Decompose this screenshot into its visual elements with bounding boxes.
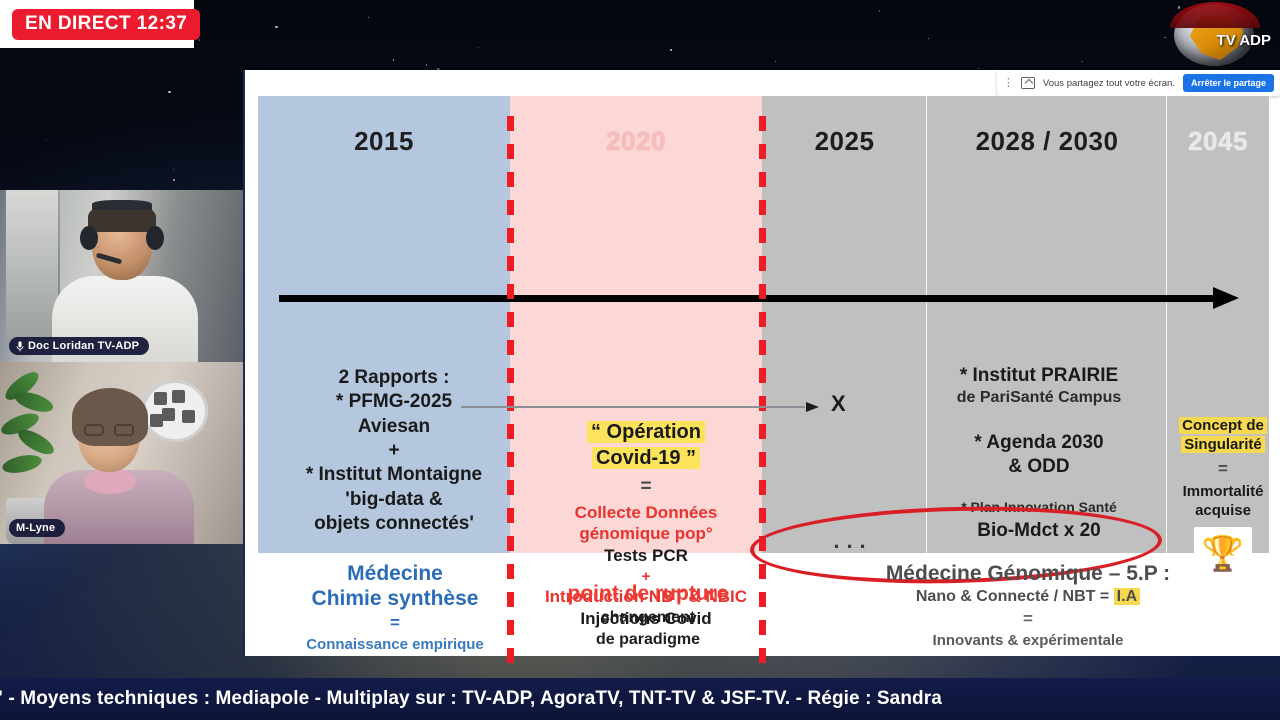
microphone-icon: [16, 341, 24, 352]
x-marker: X: [831, 391, 846, 417]
year-label-2028-2030: 2028 / 2030: [927, 126, 1167, 157]
headphone-right-cup-icon: [146, 226, 164, 250]
col-2025-header-band: [762, 96, 927, 233]
legend-pink-line-2: changement: [526, 608, 770, 628]
headphone-left-cup-icon: [80, 226, 98, 250]
bigdata-line: 'big-data &: [274, 488, 514, 512]
legend-blue-line-2: Chimie synthèse: [274, 587, 516, 612]
legend-grey-line-2: Nano & Connecté / NBT = I.A: [778, 588, 1278, 606]
legend-grey-line-3: Innovants & expérimentale: [778, 632, 1278, 649]
video-tile-participant-1[interactable]: Doc Loridan TV-ADP: [0, 190, 243, 362]
legend-medecine-chimie: Médecine Chimie synthèse = Connaissance …: [274, 562, 516, 653]
operation-line-1: “ Opération: [587, 421, 705, 443]
year-label-2025: 2025: [762, 126, 927, 157]
institut-montaigne-line: * Institut Montaigne: [274, 463, 514, 487]
legend-medecine-genomique: Médecine Génomique – 5.P : Nano & Connec…: [778, 562, 1278, 649]
legend-point-de-rupture: point de rupture changement de paradigme: [526, 582, 770, 649]
live-badge: EN DIRECT 12:37: [12, 9, 200, 40]
institut-prairie-line: * Institut PRAIRIE: [914, 364, 1164, 388]
col-2020-header-band: [510, 96, 762, 233]
collecte-donnees-line: Collecte Données: [526, 502, 766, 524]
headphone-band-icon: [92, 200, 152, 210]
concept-line-2: Singularité: [1181, 436, 1265, 453]
legend-pink-line-1: point de rupture: [526, 582, 770, 606]
acquise-line: acquise: [1168, 501, 1278, 520]
cam2-hair: [72, 388, 148, 446]
thin-arrow-head: [806, 402, 819, 412]
channel-logo: TV ADP: [1160, 2, 1276, 68]
timeline-axis-shaft: [279, 295, 1219, 302]
news-ticker: " - Moyens techniques : Mediapole - Mult…: [0, 678, 1280, 720]
tests-pcr-line: Tests PCR: [526, 545, 766, 567]
wall-art-decor: [142, 380, 208, 442]
operation-line-2: Covid-19 ”: [592, 447, 700, 469]
agenda-2030-line: * Agenda 2030: [914, 431, 1164, 455]
aviesan-line: Aviesan: [274, 415, 514, 439]
participant-2-name-badge: M-Lyne: [9, 519, 65, 537]
screen-share-toast[interactable]: ⋮ Vous partagez tout votre écran. Arrête…: [997, 70, 1280, 96]
participant-1-name-badge: Doc Loridan TV-ADP: [9, 337, 149, 355]
legend-grey-line-1: Médecine Génomique – 5.P :: [778, 562, 1278, 586]
legend-blue-line-3: Connaissance empirique: [274, 636, 516, 653]
legend-grey-equals: =: [778, 609, 1278, 629]
content-2045: Concept de Singularité = Immortalité acq…: [1168, 416, 1278, 583]
legend-grey-ia-highlight: I.A: [1114, 588, 1140, 605]
operation-covid-title: “ Opération Covid-19 ”: [526, 420, 766, 471]
ticker-text: " - Moyens techniques : Mediapole - Mult…: [0, 688, 942, 710]
shared-screen-slide[interactable]: ⋮ Vous partagez tout votre écran. Arrête…: [243, 70, 1280, 656]
rapports-heading: 2 Rapports :: [274, 366, 514, 390]
stop-sharing-button[interactable]: Arrêter le partage: [1183, 74, 1274, 92]
equals-2020: =: [526, 475, 766, 499]
immortalite-line: Immortalité: [1168, 482, 1278, 501]
legend-grey-nano-text: Nano & Connecté / NBT =: [916, 588, 1109, 605]
year-label-2020: 2020: [510, 126, 762, 157]
video-tile-participant-2[interactable]: M-Lyne: [0, 362, 243, 544]
timeline-grid: 2015 2020 2025 2028 / 2030 2045: [258, 96, 1269, 642]
globe-red-cap: [1170, 2, 1260, 28]
legend-pink-line-3: de paradigme: [526, 630, 770, 650]
eyeglasses-icon: [84, 424, 134, 436]
year-label-2045: 2045: [1167, 126, 1269, 157]
col-2045-header-band: [1167, 96, 1269, 233]
thin-arrow-shaft: [461, 406, 805, 408]
odd-line: & ODD: [914, 455, 1164, 479]
legend-blue-line-1: Médecine: [274, 562, 516, 587]
participant-2-name: M-Lyne: [16, 522, 55, 534]
plus-sign-2015: +: [274, 439, 514, 463]
year-label-2015: 2015: [258, 126, 510, 157]
timeline-axis-arrowhead: [1213, 287, 1239, 309]
pfmg-to-x-arrow: [461, 402, 819, 412]
col-2015-header-band: [258, 96, 510, 233]
col-2028-header-band: [927, 96, 1167, 233]
screen-share-icon: [1021, 77, 1035, 89]
content-2015: 2 Rapports : * PFMG-2025 Aviesan + * Ins…: [274, 366, 514, 536]
concept-singularite-title: Concept de Singularité: [1168, 416, 1278, 454]
participant-1-name: Doc Loridan TV-ADP: [28, 340, 139, 352]
parisante-campus-line: de PariSanté Campus: [914, 388, 1164, 408]
objets-connectes-line: objets connectés': [274, 512, 514, 536]
logo-text: TV ADP: [1217, 32, 1271, 49]
share-message: Vous partagez tout votre écran.: [1043, 78, 1175, 89]
drag-handle-icon[interactable]: ⋮: [1003, 79, 1013, 87]
live-badge-container: EN DIRECT 12:37: [0, 0, 194, 48]
genomique-pop-line: génomique pop°: [526, 523, 766, 545]
legend-blue-equals: =: [274, 613, 516, 633]
equals-2045: =: [1168, 458, 1278, 480]
concept-line-1: Concept de: [1179, 417, 1267, 434]
